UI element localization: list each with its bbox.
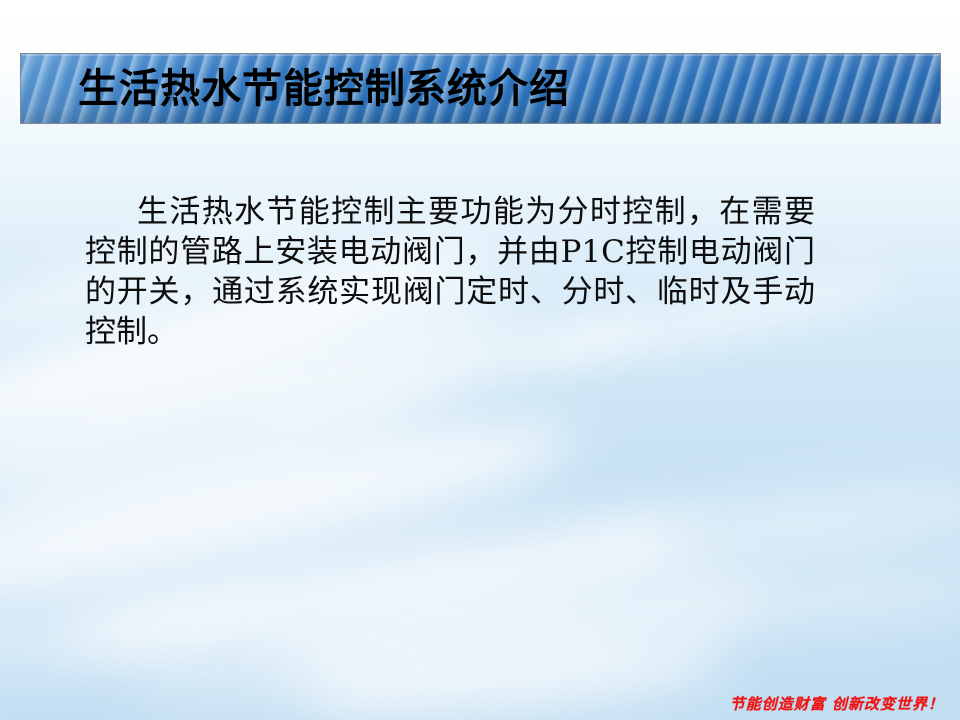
footer-slogan: 节能创造财富 创新改变世界！	[730, 693, 944, 714]
slide-title-text: 生活热水节能控制系统介绍	[78, 69, 570, 109]
slide-title-banner: 生活热水节能控制系统介绍	[20, 53, 941, 124]
presentation-slide: 生活热水节能控制系统介绍 生活热水节能控制主要功能为分时控制，在需要控制的管路上…	[0, 0, 960, 720]
slide-body-paragraph: 生活热水节能控制主要功能为分时控制，在需要控制的管路上安装电动阀门，并由P1C控…	[85, 192, 815, 352]
